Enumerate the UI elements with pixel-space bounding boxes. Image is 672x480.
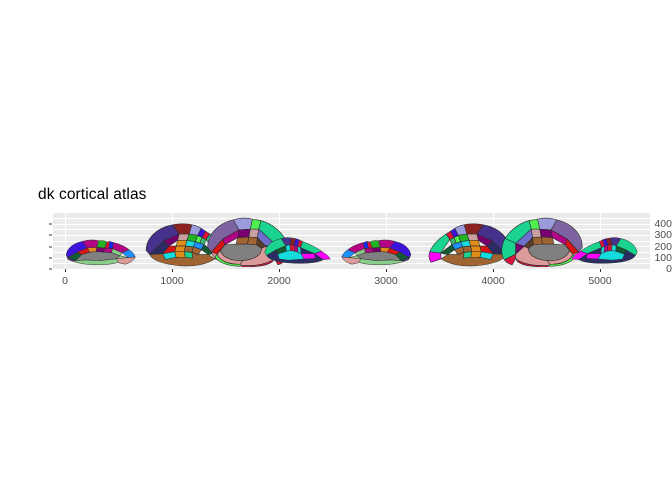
x-tick-mark [493,269,494,272]
brain-view-4-left-lateral [263,235,339,265]
brain-view-8-right-lateral [563,235,639,265]
x-tick-label: 2000 [267,275,290,287]
brain-view-5-right-lateral [334,236,412,266]
x-tick-label: 4000 [481,275,504,287]
x-tick-mark [386,269,387,272]
y-tick-mark [49,235,52,236]
x-tick-mark [279,269,280,272]
x-tick-label: 1000 [160,275,183,287]
brain-view-1-left-lateral [65,236,143,266]
x-tick-label: 3000 [374,275,397,287]
y-tick-mark [49,258,52,259]
y-tick-mark [49,246,52,247]
x-tick-mark [600,269,601,272]
page-title: dk cortical atlas [38,186,147,204]
plot-root: dk cortical atlas 0 100 200 300 400 [0,0,672,480]
x-tick-label: 0 [62,275,68,287]
x-tick-mark [172,269,173,272]
brain-views-layer [53,213,650,269]
y-tick-mark [49,223,52,224]
x-tick-label: 5000 [588,275,611,287]
y-tick-mark [49,269,52,270]
plot-panel [53,213,650,269]
x-tick-mark [65,269,66,272]
